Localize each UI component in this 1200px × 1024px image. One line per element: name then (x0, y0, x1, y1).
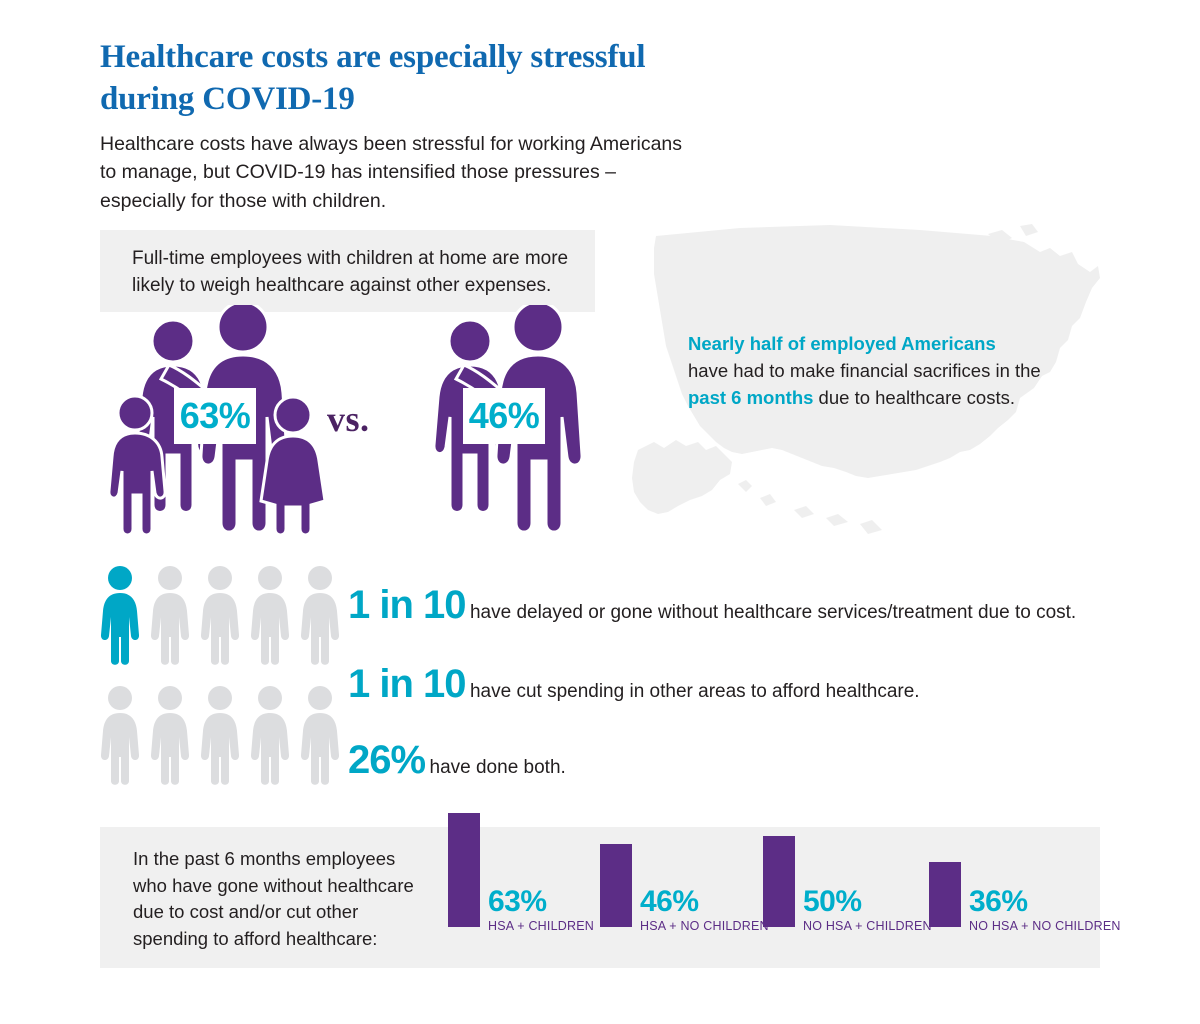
bar-value-0: 63% (488, 887, 594, 917)
stat-badge-without-children: 46% (463, 388, 545, 444)
bottom-caption-text: In the past 6 months employees who have … (133, 846, 433, 953)
infographic-page: Healthcare costs are especially stressfu… (0, 0, 1200, 1024)
person-icon-empty (200, 565, 240, 667)
people-pictogram-row-1 (100, 565, 340, 667)
bar-category-2: NO HSA + CHILDREN (803, 920, 932, 933)
bar-labels-3: 36% NO HSA + NO CHILDREN (969, 887, 1121, 933)
intro-paragraph: Healthcare costs have always been stress… (100, 130, 700, 215)
stat-line-1: 1 in 10 have delayed or gone without hea… (348, 583, 1076, 628)
map-callout-tail: due to healthcare costs. (813, 387, 1015, 408)
bar-value-1: 46% (640, 887, 769, 917)
bar-category-3: NO HSA + NO CHILDREN (969, 920, 1121, 933)
person-icon-empty (250, 685, 290, 787)
stat-3-value: 26% (348, 738, 425, 782)
bar-value-3: 36% (969, 887, 1121, 917)
page-title: Healthcare costs are especially stressfu… (100, 36, 740, 120)
stat-badge-with-children: 63% (174, 388, 256, 444)
stat-line-2: 1 in 10 have cut spending in other areas… (348, 662, 920, 707)
stat-2-text: have cut spending in other areas to affo… (470, 681, 920, 702)
bar-category-1: HSA + NO CHILDREN (640, 920, 769, 933)
person-icon-empty (300, 565, 340, 667)
person-icon-empty (150, 565, 190, 667)
bar-rect-3 (929, 862, 961, 927)
bar-chart: 63% HSA + CHILDREN 46% HSA + NO CHILDREN… (448, 845, 1098, 950)
stat-line-3: 26% have done both. (348, 738, 566, 783)
bar-labels-1: 46% HSA + NO CHILDREN (640, 887, 769, 933)
bar-rect-0 (448, 813, 480, 927)
callout-top-text: Full-time employees with children at hom… (132, 246, 572, 300)
versus-label: vs. (327, 398, 370, 440)
person-icon-filled (100, 565, 140, 667)
stat-3-text: have done both. (430, 757, 566, 778)
map-callout-lead: Nearly half of employed Americans (688, 333, 996, 354)
bar-rect-1 (600, 844, 632, 927)
bar-labels-2: 50% NO HSA + CHILDREN (803, 887, 932, 933)
person-icon-empty (300, 685, 340, 787)
stat-badge-value-46: 46% (469, 395, 540, 437)
stat-1-text: have delayed or gone without healthcare … (470, 602, 1076, 623)
map-callout-mid: have had to make financial sacrifices in… (688, 360, 1041, 381)
stat-1-value: 1 in 10 (348, 583, 466, 627)
person-icon-empty (250, 565, 290, 667)
bar-labels-0: 63% HSA + CHILDREN (488, 887, 594, 933)
people-pictogram-row-2 (100, 685, 340, 787)
person-icon-empty (150, 685, 190, 787)
map-callout-text: Nearly half of employed Americans have h… (688, 330, 1058, 411)
stat-2-value: 1 in 10 (348, 662, 466, 706)
bar-rect-2 (763, 836, 795, 927)
bar-category-0: HSA + CHILDREN (488, 920, 594, 933)
map-callout-highlight: past 6 months (688, 387, 813, 408)
callout-panel-top: Full-time employees with children at hom… (100, 230, 595, 312)
stat-badge-value-63: 63% (180, 395, 251, 437)
bar-value-2: 50% (803, 887, 932, 917)
person-icon-empty (200, 685, 240, 787)
person-icon-empty (100, 685, 140, 787)
